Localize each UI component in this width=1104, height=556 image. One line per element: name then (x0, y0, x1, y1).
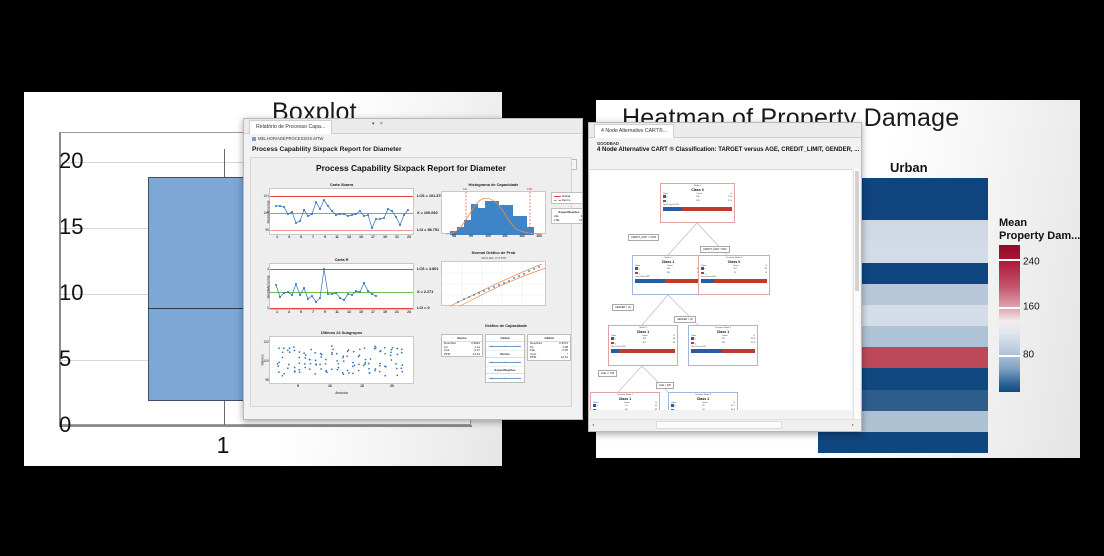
overall-stats-table: Global DesvPad 0.8473 Pp 1.08 Ppk 0.36 C… (527, 334, 571, 361)
xbar-x-tick-17: 17 (371, 235, 375, 239)
tab-controls-icon[interactable]: ▾ × (372, 121, 385, 127)
colorbar-tick-80: 80 (1023, 350, 1034, 361)
subgroups-chart-plot: Valores 102 100 98 5 10 15 20 Amostra (269, 336, 414, 384)
cart-node-t2[interactable]: Terminal Node 2Class 1ClassCount%014139.… (688, 325, 758, 366)
cap-spec-mark-lsl: + (491, 376, 493, 381)
overall-value-4: 12.01 (561, 356, 568, 360)
cart-header: GOODBAD 4 Node Alternative CART ® Classi… (589, 138, 861, 153)
r-x-tick-15: 15 (359, 310, 363, 314)
histogram-plot: 98 99 100 101 102 103 (441, 191, 546, 234)
cart-hscroll-thumb[interactable] (656, 421, 782, 429)
node-table-row: 18485 (593, 409, 657, 410)
cart-horizontal-scrollbar[interactable]: ◂ ▸ (590, 419, 860, 430)
sg-x-tick-10: 10 (328, 384, 332, 388)
legend-within-swatch (554, 200, 561, 201)
cart-node-n3[interactable]: Node 3Class 1ClassCount%019836120164Tota… (608, 325, 678, 366)
heatmap-column-label: Urban (890, 160, 928, 175)
r-x-tick-5: 5 (300, 310, 302, 314)
r-y-tick-2: 2 (267, 288, 269, 292)
heatmap-colorbar (999, 245, 1020, 392)
cap-global-mark-lsl: + (491, 344, 493, 349)
sg-y-tick-102: 102 (263, 340, 269, 344)
cart-node-root[interactable]: Node 1Class 0ClassCount%090073.0133327.0… (660, 183, 735, 223)
spec-usl-row: LSE 100 (554, 218, 583, 222)
scroll-left-icon[interactable]: ◂ (592, 422, 598, 428)
node-total: Total Count 399 (609, 346, 677, 348)
r-series (270, 264, 415, 311)
node-table: ClassCount%0151518485 (591, 402, 659, 411)
node-table-row: 19354.3 (671, 409, 735, 410)
legend-title-line1: Mean (999, 217, 1079, 230)
r-x-tick-7: 7 (312, 310, 314, 314)
node-table: ClassCount%03578715113 (699, 265, 769, 277)
node-bar (691, 349, 755, 353)
r-center-label: X = 2.271 (417, 290, 433, 294)
legend-global-swatch (554, 196, 561, 197)
cap-global-mark-usl: + (517, 344, 519, 349)
sg-y-tick-98: 98 (265, 378, 269, 382)
r-x-tick-19: 19 (383, 310, 387, 314)
sixpack-command-heading: Process Capability Sixpack Report for Di… (244, 145, 582, 155)
cap-spec-mark-mid: + (504, 376, 506, 381)
cap-within-mark-lsl: + (491, 360, 493, 365)
cart-node-t3[interactable]: Terminal Node 1Class 1ClassCount%0151518… (590, 392, 660, 410)
colorbar-sep-2 (999, 307, 1020, 309)
tab-process-capability-report[interactable]: Relatório de Processo Capa... (249, 120, 332, 134)
cart-split-s3[interactable]: GENDER = (1) (612, 304, 634, 311)
xbar-y-tick-100: 100 (263, 211, 269, 215)
hist-x-tick-98: 98 (452, 234, 456, 238)
spec-legend-title: Especificações (554, 210, 583, 214)
cart-dataset-label: GOODBAD (597, 141, 861, 146)
node-total: Total Count 825 (633, 276, 703, 278)
xbar-x-tick-3: 3 (288, 235, 290, 239)
histogram-bars (442, 192, 547, 235)
cart-tree-canvas: Node 1Class 0ClassCount%090073.0133327.0… (590, 169, 852, 410)
xbar-y-tick-101: 101 (263, 194, 269, 198)
xbar-series (270, 189, 415, 236)
sg-x-tick-20: 20 (390, 384, 394, 388)
node-bar (701, 279, 767, 283)
r-chart-plot: Média Amostral 4 2 0 (269, 263, 414, 310)
node-bar (611, 349, 675, 353)
colorbar-tick-240: 240 (1023, 257, 1040, 268)
screenshot-stage: Boxplot 20 15 10 5 0 1 Heatmap of Proper… (0, 0, 1104, 556)
sg-x-tick-15: 15 (360, 384, 364, 388)
r-x-tick-17: 17 (371, 310, 375, 314)
whisker-upper (224, 149, 225, 177)
xbar-x-tick-21: 21 (395, 235, 399, 239)
normal-plot-subtitle: AD:0.201, P:0.878 (441, 256, 546, 260)
xbar-x-tick-1: 1 (276, 235, 278, 239)
node-table: ClassCount%07845.719354.3 (669, 402, 737, 411)
node-table: ClassCount%054345.4128254.6 (633, 265, 703, 277)
cap-within-mark-usl: + (517, 360, 519, 365)
sixpack-worksheet-name: MELHORIADEPROCESSOS.MTW (244, 134, 582, 145)
colorbar-sep-1 (999, 259, 1020, 261)
legend-title-line2: Property Dam... (999, 230, 1079, 243)
r-x-tick-13: 13 (347, 310, 351, 314)
r-y-tick-4: 4 (267, 267, 269, 271)
xbar-x-tick-13: 13 (347, 235, 351, 239)
worksheet-icon (252, 137, 256, 141)
overall-row-4: PPM 12.01 (528, 356, 570, 360)
xbar-x-tick-23: 23 (407, 235, 411, 239)
xbar-x-tick-9: 9 (324, 235, 326, 239)
subgroups-chart-title: Últimos 24 Subgrupos (269, 330, 414, 335)
hist-x-tick-103: 103 (536, 234, 542, 238)
worksheet-label: MELHORIADEPROCESSOS.MTW (258, 136, 323, 141)
cart-analysis-title: 4 Node Alternative CART ® Classification… (597, 147, 861, 153)
cart-node-n2[interactable]: Node 2Class 1ClassCount%054345.4128254.6… (632, 255, 704, 295)
legend-within-label: Dentro (562, 198, 571, 202)
subgroups-x-label: Amostra (335, 391, 348, 395)
cap-global-mark-mid: + (504, 344, 506, 349)
cart-split-s4[interactable]: GENDER = (2) (674, 316, 696, 323)
cap-panel-within-bar: + + + (486, 358, 524, 367)
spec-legend: Especificações LIE 99 LSE 100 (551, 208, 583, 224)
tab-cart-classification[interactable]: 4 Node Alternative CART®... (594, 124, 674, 138)
node-table: ClassCount%090073.0133327.0 (661, 193, 734, 205)
colorbar-tick-160: 160 (1023, 302, 1040, 313)
heatmap-legend: Mean Property Dam... 240 160 80 (999, 217, 1079, 243)
node-bar (663, 207, 732, 211)
cart-node-t1[interactable]: Terminal Node 3Class 0ClassCount%0357871… (698, 255, 770, 295)
subgroups-scatter (270, 337, 415, 385)
minitab-cart-window[interactable]: 4 Node Alternative CART®... GOODBAD 4 No… (588, 122, 862, 432)
cap-panel-spec-bar: + + + (486, 374, 524, 382)
r-chart-title: Carta R (269, 257, 414, 262)
node-bar (635, 279, 701, 283)
sg-x-tick-5: 5 (297, 384, 299, 388)
node-total: Total Count 426 (689, 346, 757, 348)
hist-x-tick-102: 102 (519, 234, 525, 238)
xbar-x-tick-11: 11 (335, 235, 339, 239)
capability-plot-title: Gráfico de Capacidade (441, 323, 571, 328)
xbar-ucl-label: LCS = 101.370 (417, 194, 443, 198)
capability-panels: Global + + + Dentro + + + Especificaçõ (485, 334, 525, 383)
within-stats-table: Dentro DesvPad 0.9944 Cp 1.11 Cpk 0.37 P… (441, 334, 483, 357)
spec-usl-value: 100 (579, 218, 583, 222)
node-total: Total Count 408 (699, 276, 769, 278)
xbar-y-tick-99: 99 (265, 228, 269, 232)
cap-spec-mark-usl: + (517, 376, 519, 381)
node-table: ClassCount%014139.0128561.0 (689, 335, 757, 347)
cart-split-s6[interactable]: AGE > 335 (656, 382, 674, 389)
legend-within-row: Dentro (554, 198, 583, 202)
hist-x-tick-100: 100 (485, 234, 491, 238)
normal-plot-title: Normal Gráfico de Prob (441, 250, 546, 255)
cap-within-mark-mid: + (504, 360, 506, 365)
overall-label-4: PPM (530, 356, 536, 360)
heatmap-cell-12 (818, 432, 988, 454)
x-tick-1: 1 (217, 432, 230, 459)
r-ucl-label: LCS = 4.801 (417, 267, 438, 271)
cap-panel-within-header: Dentro (486, 351, 524, 358)
r-y-tick-0: 0 (267, 306, 269, 310)
r-x-tick-1: 1 (276, 310, 278, 314)
cart-split-s2[interactable]: CREDIT_LIMIT >1540 (700, 246, 730, 253)
boxplot-y-axis (59, 132, 61, 426)
r-x-tick-9: 9 (324, 310, 326, 314)
cart-vscroll-thumb[interactable] (855, 171, 859, 291)
xbar-x-tick-5: 5 (300, 235, 302, 239)
cart-split-s1[interactable]: CREDIT_LIMIT <=1540 (628, 234, 659, 241)
xbar-lcl-label: LCI = 98.751 (417, 228, 439, 232)
xbar-x-tick-7: 7 (312, 235, 314, 239)
r-x-tick-11: 11 (335, 310, 339, 314)
sixpack-report-canvas: Process Capability Sixpack Report for Di… (250, 157, 572, 407)
node-table: ClassCount%019836120164 (609, 335, 677, 347)
xbar-x-tick-19: 19 (383, 235, 387, 239)
xbar-x-tick-15: 15 (359, 235, 363, 239)
r-lcl-label: LCI = 0 (417, 306, 430, 310)
minitab-sixpack-window[interactable]: Relatório de Processo Capa... ▾ × MELHOR… (243, 118, 583, 420)
cart-node-t4[interactable]: Terminal Node 4Class 1ClassCount%07845.7… (668, 392, 738, 410)
within-value-3: 13.43 (473, 353, 480, 357)
colorbar-sep-3 (999, 355, 1020, 357)
boxplot-x-axis (59, 425, 472, 427)
cart-tabstrip: 4 Node Alternative CART®... (589, 123, 861, 138)
within-label-3: PPM (444, 353, 450, 357)
cart-vertical-scrollbar[interactable] (853, 169, 860, 419)
cart-split-s5[interactable]: AGE <= 335 (598, 370, 617, 377)
xbar-center-label: X = 100.060 (417, 211, 438, 215)
normal-plot (441, 261, 546, 306)
cap-panel-spec-header: Especificações (486, 367, 524, 374)
histogram-legend: Global Dentro (551, 192, 583, 204)
spec-usl-label: LSE (554, 218, 559, 222)
r-x-tick-3: 3 (288, 310, 290, 314)
sixpack-report-title: Process Capability Sixpack Report for Di… (251, 163, 571, 173)
histogram-title: Histograma de Capacidade (441, 182, 546, 187)
r-x-tick-23: 23 (407, 310, 411, 314)
r-x-tick-21: 21 (395, 310, 399, 314)
xbar-chart-plot: Média Amostral 101 100 99 (269, 188, 414, 235)
cap-panel-global-header: Global (486, 335, 524, 342)
within-row-3: PPM 13.43 (442, 353, 482, 357)
hist-x-tick-99: 99 (469, 234, 473, 238)
scroll-right-icon[interactable]: ▸ (852, 422, 858, 428)
sixpack-tabstrip: Relatório de Processo Capa... ▾ × (244, 119, 582, 134)
normal-plot-points (442, 262, 547, 307)
xbar-chart-title: Carta Xbarra (269, 182, 414, 187)
cap-panel-global-bar: + + + (486, 342, 524, 351)
node-total: Total Count 1233 (661, 204, 734, 206)
hist-x-tick-101: 101 (502, 234, 508, 238)
sg-y-tick-100: 100 (263, 359, 269, 363)
